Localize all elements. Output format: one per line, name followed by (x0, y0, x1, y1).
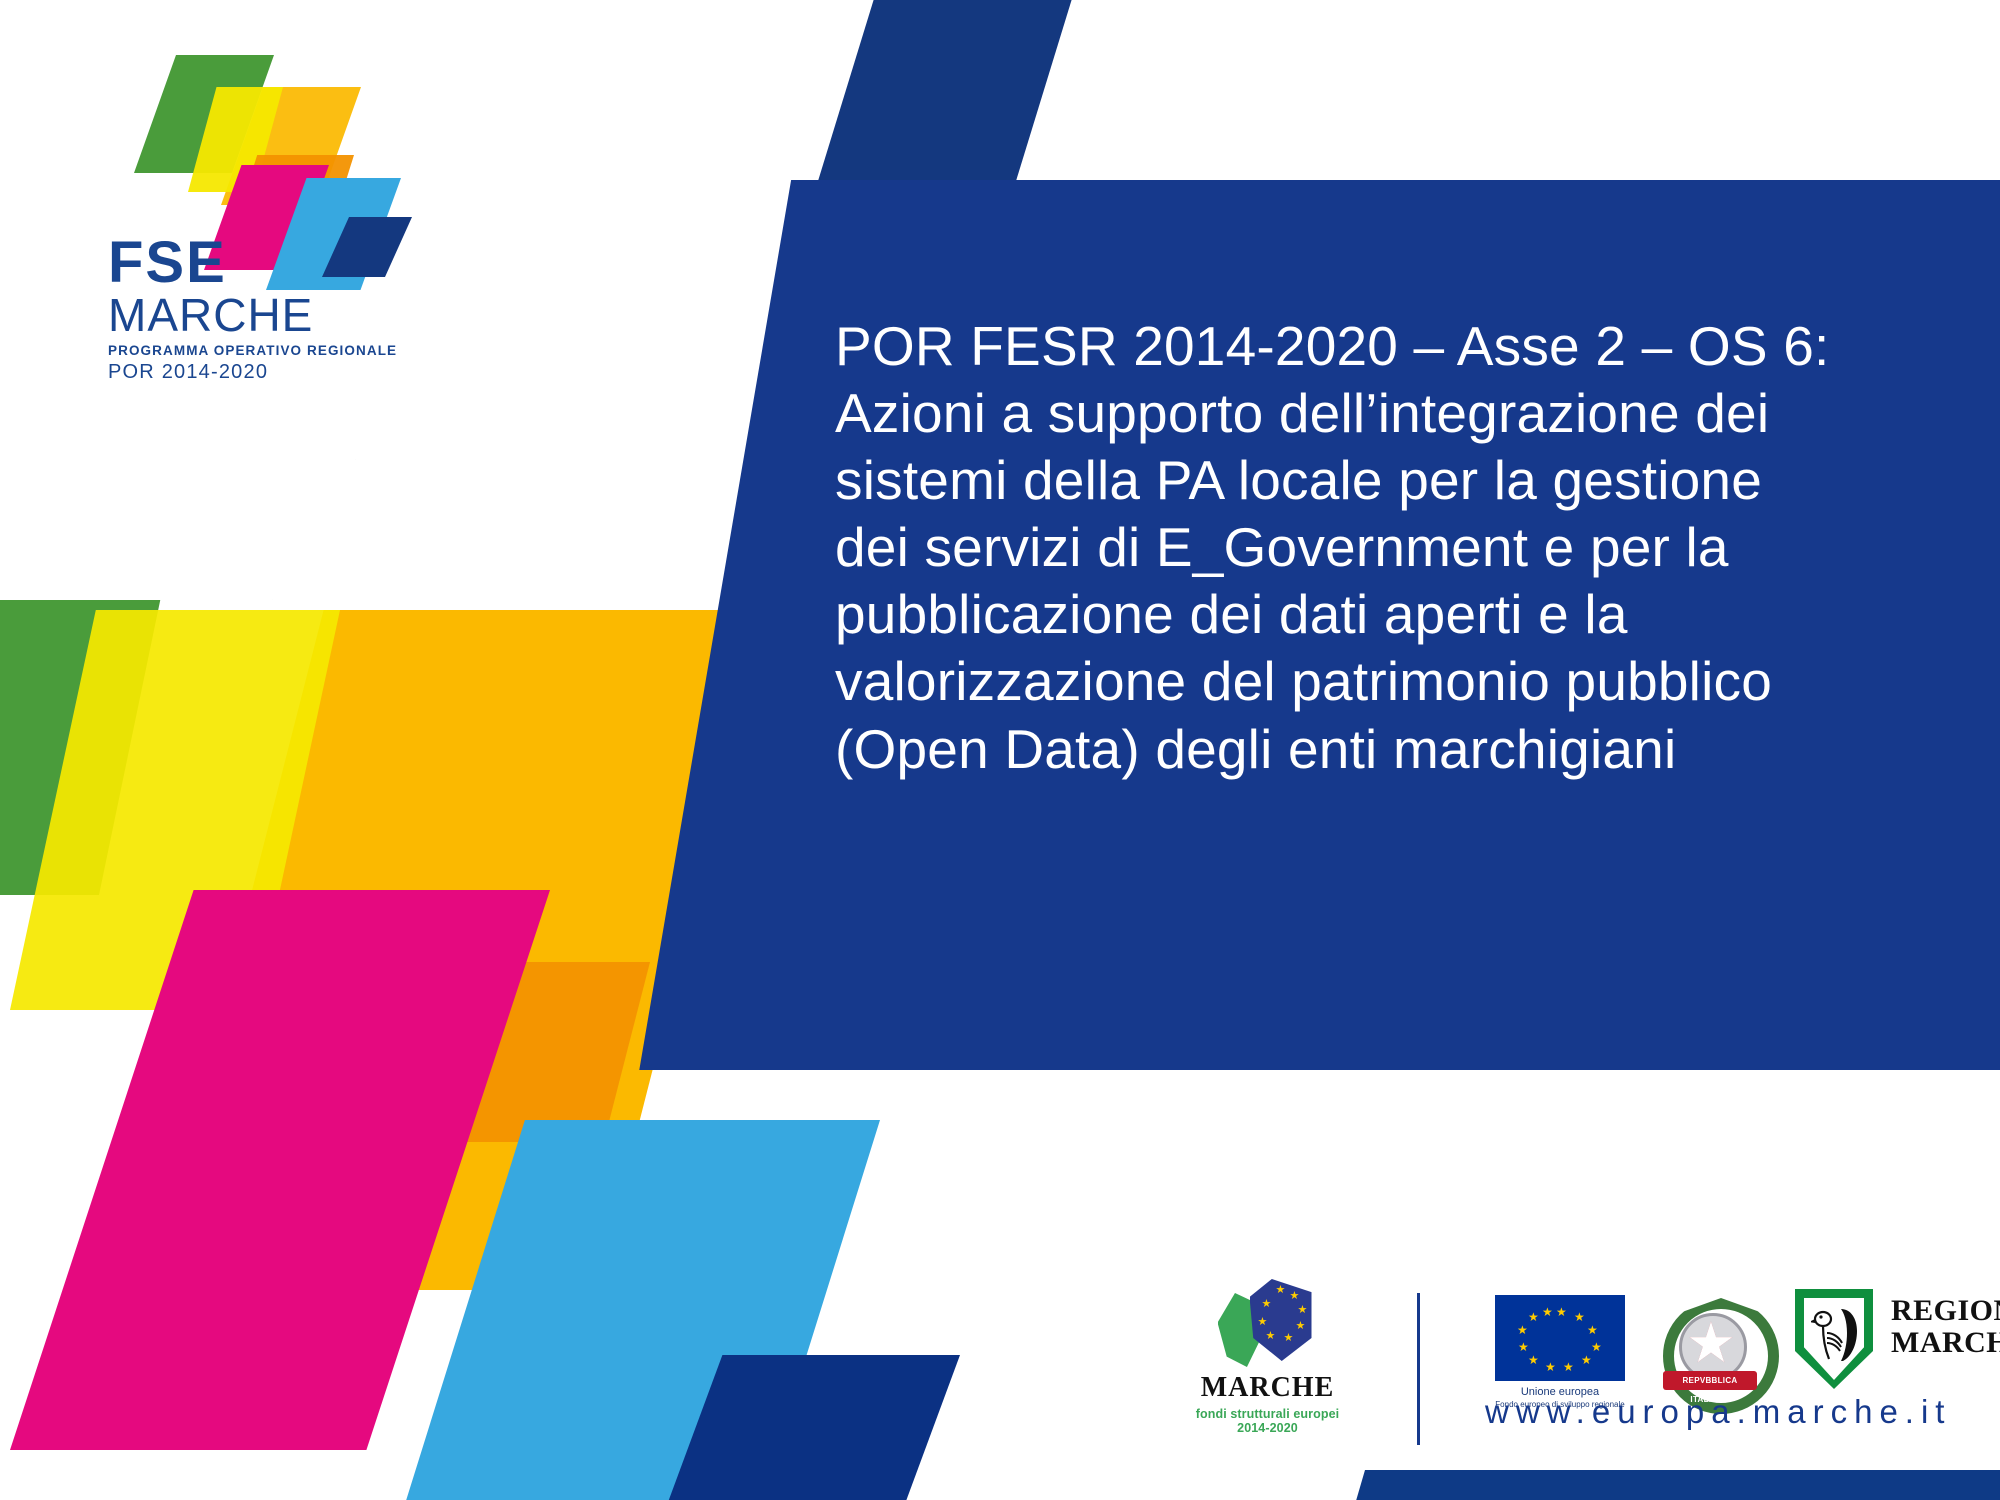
fse-marche-logo: FSE MARCHE PROGRAMMA OPERATIVO REGIONALE… (108, 55, 438, 345)
fse-logo-mark (126, 55, 396, 250)
footer-divider (1417, 1293, 1420, 1445)
regione-marche-wordmark: REGIONE MARCHE (1891, 1295, 2000, 1360)
marche-fondi-logo: ★ ★ ★ ★ ★ ★ ★ ★ MARCHE fondi strutturali… (1180, 1275, 1355, 1440)
marche-map-icon: ★ ★ ★ ★ ★ ★ ★ ★ (1208, 1275, 1328, 1370)
regione-line-1: REGIONE (1891, 1295, 2000, 1327)
page-title: POR FESR 2014-2020 – Asse 2 – OS 6: Azio… (835, 313, 1955, 783)
republic-band-label: REPVBBLICA ITALIANA (1663, 1371, 1757, 1390)
title-line-1: POR FESR 2014-2020 – Asse 2 – OS 6: (835, 313, 1955, 380)
regione-marche-logo: REGIONE MARCHE (1795, 1289, 2000, 1409)
fse-logo-wordmark: FSE MARCHE PROGRAMMA OPERATIVO REGIONALE… (108, 235, 438, 384)
decor-navy-bottom-right-bar (1330, 1470, 2000, 1500)
fse-logo-line-fse: FSE (108, 235, 438, 291)
fse-logo-line-por: POR 2014-2020 (108, 361, 438, 384)
title-line-6: valorizzazione del patrimonio pubblico (835, 648, 1955, 715)
fse-logo-line-marche: MARCHE (108, 291, 438, 339)
title-line-4: dei servizi di E_Government e per la (835, 514, 1955, 581)
eu-flag-icon: ★ ★ ★ ★ ★ ★ ★ ★ ★ ★ ★ ★ (1495, 1295, 1625, 1381)
woodpecker-icon (1811, 1305, 1859, 1367)
marche-logo-subtitle: fondi strutturali europei 2014-2020 (1180, 1407, 1355, 1435)
title-line-2: Azioni a supporto dell’integrazione dei (835, 380, 1955, 447)
fse-logo-line-programma: PROGRAMMA OPERATIVO REGIONALE (108, 343, 438, 358)
slide-root: FSE MARCHE PROGRAMMA OPERATIVO REGIONALE… (0, 0, 2000, 1500)
five-point-star-icon: ★ (1682, 1314, 1740, 1372)
marche-logo-title: MARCHE (1180, 1372, 1355, 1404)
eu-star-badge-icon: ★ ★ ★ ★ ★ ★ ★ ★ (1250, 1279, 1312, 1361)
title-line-5: pubblicazione dei dati aperti e la (835, 581, 1955, 648)
eu-logo: ★ ★ ★ ★ ★ ★ ★ ★ ★ ★ ★ ★ Unione europea F… (1485, 1295, 1635, 1409)
republic-of-italy-emblem: ★ REPVBBLICA ITALIANA (1655, 1293, 1765, 1403)
footer-logo-bar: ★ ★ ★ ★ ★ ★ ★ ★ MARCHE fondi strutturali… (1180, 1275, 1970, 1465)
regione-line-2: MARCHE (1891, 1327, 2000, 1359)
title-line-3: sistemi della PA locale per la gestione (835, 447, 1955, 514)
title-line-7: (Open Data) degli enti marchigiani (835, 716, 1955, 783)
website-url[interactable]: www.europa.marche.it (1485, 1393, 1951, 1431)
